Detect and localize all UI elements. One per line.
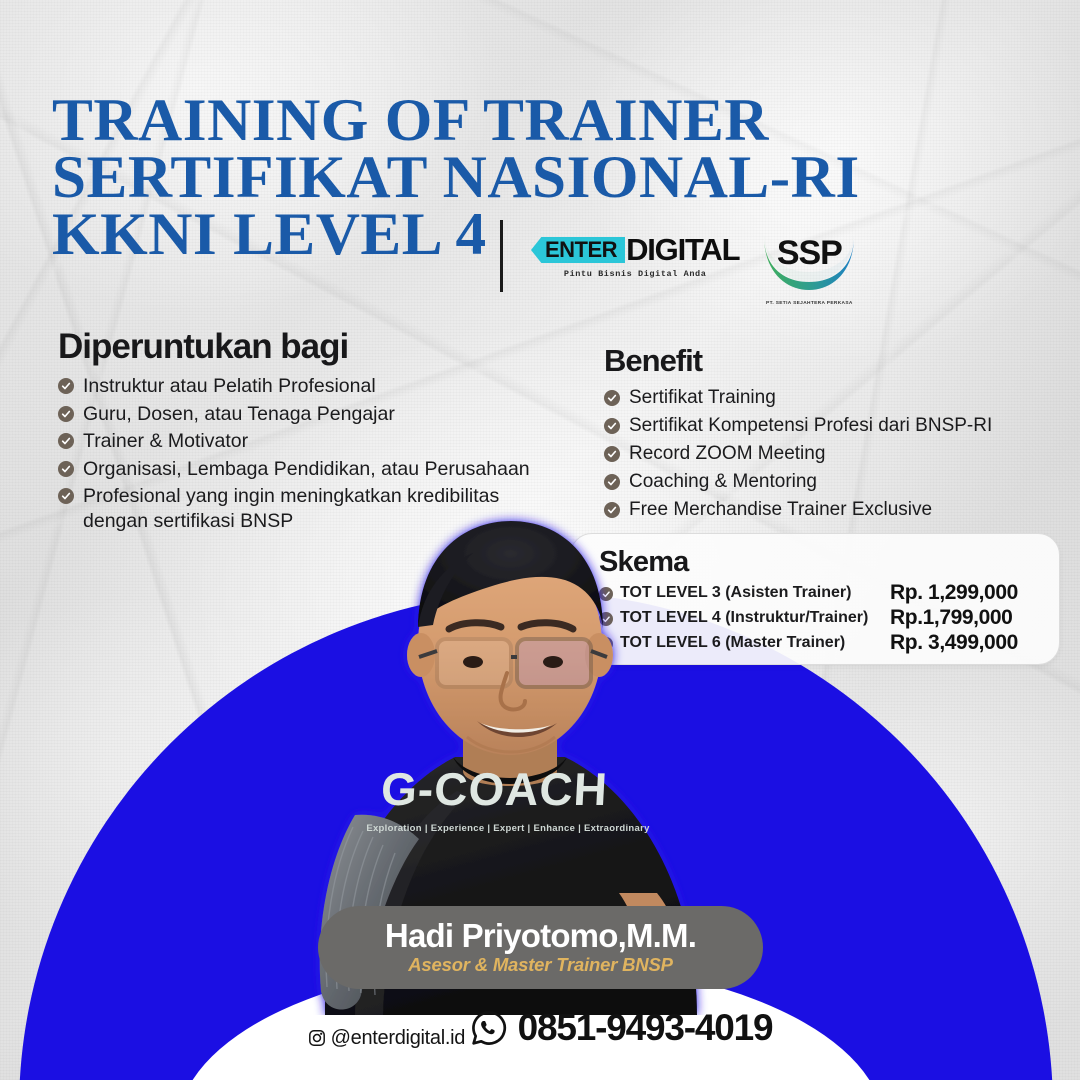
skema-row-price: Rp. 1,299,000 [890,581,1018,605]
check-icon [61,464,71,474]
ssp-logo: SSP PT. SETIA SEJAHTERA PERKASA [761,228,857,304]
benefit-heading: Benefit [604,343,1054,379]
check-icon [607,477,617,487]
check-bullet-icon [58,406,74,422]
ssp-acronym: SSP [761,234,857,273]
check-bullet-icon [604,418,620,434]
check-bullet-icon [58,461,74,477]
benefit-item-label: Coaching & Mentoring [629,470,817,494]
title-line-2: SERTIFIKAT NASIONAL-RI [52,149,860,206]
audience-item: Trainer & Motivator [58,429,558,454]
enter-digital-logo: ENTER DIGITAL Pintu Bisnis Digital Anda [531,236,739,279]
audience-item-label: Trainer & Motivator [83,429,248,454]
instagram-handle: @enterdigital.id [331,1027,465,1050]
audience-heading: Diperuntukan bagi [58,327,558,367]
benefit-item-label: Sertifikat Training [629,386,776,410]
digital-wordmark: DIGITAL [626,236,739,264]
benefit-item-label: Record ZOOM Meeting [629,442,825,466]
ssp-subtitle: PT. SETIA SEJAHTERA PERKASA [761,301,857,306]
benefit-item: Coaching & Mentoring [604,470,1054,494]
svg-text:G-COACH: G-COACH [380,763,609,815]
check-bullet-icon [604,390,620,406]
instagram-icon [308,1029,326,1047]
whatsapp-icon [470,1009,508,1047]
check-icon [61,491,71,501]
whatsapp-contact[interactable]: 0851-9493-4019 [470,1007,773,1049]
benefit-item: Sertifikat Training [604,386,1054,410]
audience-item-label: Guru, Dosen, atau Tenaga Pengajar [83,402,395,427]
check-icon [61,436,71,446]
audience-item: Instruktur atau Pelatih Profesional [58,374,558,399]
check-icon [607,393,617,403]
presenter-role: Asesor & Master Trainer BNSP [408,954,672,976]
instagram-contact[interactable]: @enterdigital.id [308,1027,465,1050]
benefit-item-label: Sertifikat Kompetensi Profesi dari BNSP-… [629,414,992,438]
audience-item-label: Instruktur atau Pelatih Profesional [83,374,376,399]
benefit-item: Sertifikat Kompetensi Profesi dari BNSP-… [604,414,1054,438]
check-bullet-icon [58,488,74,504]
check-bullet-icon [58,433,74,449]
check-icon [607,421,617,431]
whatsapp-number: 0851-9493-4019 [518,1007,773,1049]
check-icon [61,381,71,391]
title-line-1: TRAINING OF TRAINER [52,92,860,149]
contact-block: @enterdigital.id 0851-9493-4019 [0,1005,1080,1052]
vertical-divider [500,220,503,292]
skema-row-price: Rp.1,799,000 [890,606,1012,630]
skema-row-price: Rp. 3,499,000 [890,631,1018,655]
enter-badge: ENTER [531,237,625,263]
audience-item: Guru, Dosen, atau Tenaga Pengajar [58,402,558,427]
check-bullet-icon [604,446,620,462]
presenter-name: Hadi Priyotomo,M.M. [385,919,696,953]
audience-item: Organisasi, Lembaga Pendidikan, atau Per… [58,457,558,482]
enter-digital-wordmark: ENTER DIGITAL [531,236,739,264]
enter-digital-tagline: Pintu Bisnis Digital Anda [564,269,707,279]
check-bullet-icon [604,474,620,490]
check-bullet-icon [58,378,74,394]
poster-canvas: TRAINING OF TRAINER SERTIFIKAT NASIONAL-… [0,0,1080,1080]
svg-text:Exploration | Experience | Exp: Exploration | Experience | Expert | Enha… [366,823,650,834]
presenter-name-banner: Hadi Priyotomo,M.M. Asesor & Master Trai… [318,906,763,989]
check-icon [607,449,617,459]
check-icon [61,409,71,419]
logo-row: ENTER DIGITAL Pintu Bisnis Digital Anda … [500,220,857,304]
audience-item-label: Organisasi, Lembaga Pendidikan, atau Per… [83,457,530,482]
benefit-item: Record ZOOM Meeting [604,442,1054,466]
